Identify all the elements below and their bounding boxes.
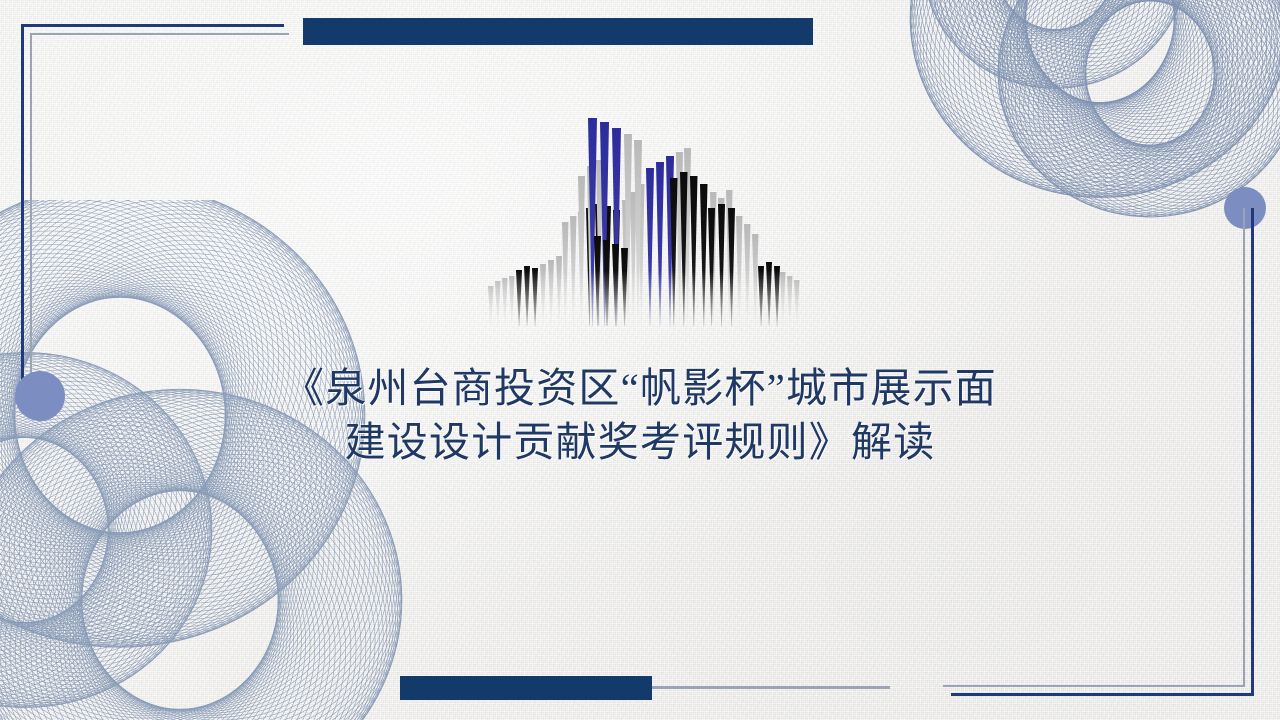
bottom-navy-bar [400,676,652,700]
right-accent-dot [1224,187,1266,229]
bottom-right-bracket-horizontal-navy [951,693,1254,696]
bottom-trailing-line [652,686,890,689]
top-navy-bar [303,18,813,45]
page-title: 《泉州台商投资区“帆影杯”城市展示面建设设计贡献奖考评规则》解读 [0,361,1280,469]
bottom-right-bracket-horizontal-gray [943,685,1245,687]
page-title-line-1: 《泉州台商投资区“帆影杯”城市展示面 [283,365,997,411]
page-title-line-2: 建设设计贡献奖考评规则》解读 [345,419,936,465]
top-right-spirograph [850,0,1280,298]
top-left-bracket-horizontal-gray [30,33,289,35]
top-left-bracket-vertical-gray [30,33,32,396]
presentation-slide: 《泉州台商投资区“帆影杯”城市展示面建设设计贡献奖考评规则》解读 [0,0,1280,720]
top-left-bracket-horizontal-navy [21,24,284,27]
city-skyline-logo [470,104,810,336]
top-left-bracket-vertical-navy [21,24,24,396]
